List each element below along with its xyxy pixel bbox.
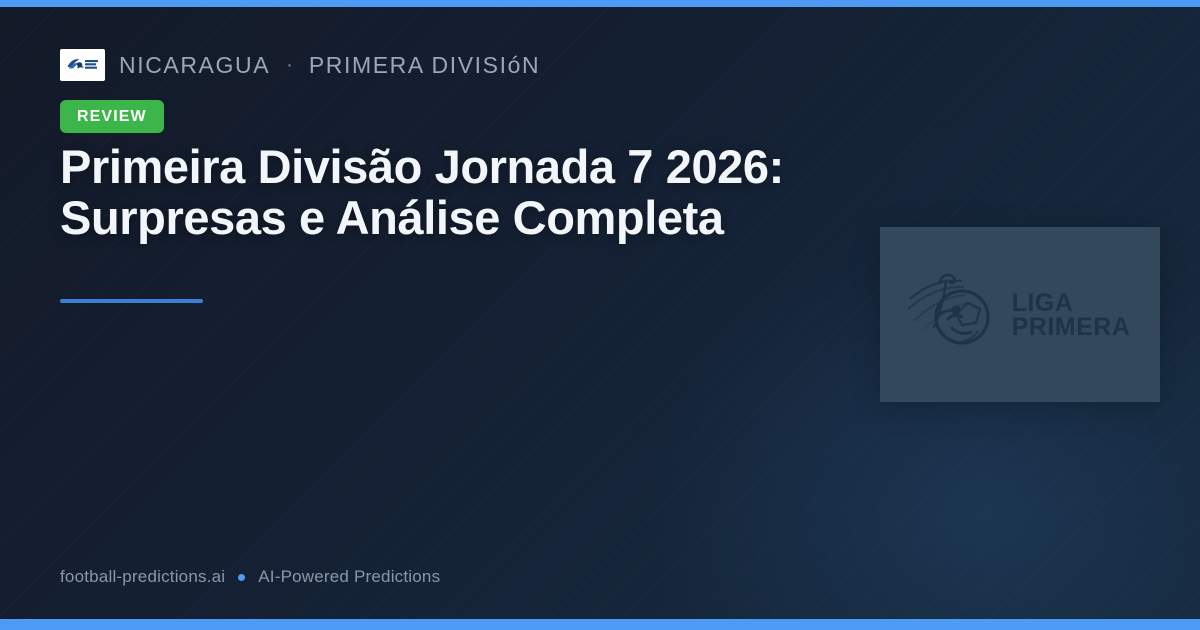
breadcrumb-country: NICARAGUA — [119, 52, 270, 79]
footer-site-name: football-predictions.ai — [60, 567, 225, 587]
league-logo: LIGA PRIMERA — [906, 269, 1131, 360]
status-badge: REVIEW — [60, 100, 164, 133]
footer: football-predictions.ai AI-Powered Predi… — [60, 567, 440, 587]
liga-primera-ball-icon — [906, 269, 1006, 360]
league-logo-word-liga: LIGA — [1012, 291, 1131, 315]
bullet-dot-icon — [238, 574, 245, 581]
title-divider — [60, 299, 203, 303]
breadcrumb: NICARAGUA · PRIMERA DIVISIóN — [60, 48, 540, 82]
og-share-card: NICARAGUA · PRIMERA DIVISIóN REVIEW Prim… — [0, 0, 1200, 630]
nicaragua-flag-icon — [60, 49, 105, 81]
league-logo-word-primera: PRIMERA — [1012, 315, 1131, 339]
league-logo-panel: LIGA PRIMERA — [880, 227, 1160, 402]
page-title: Primeira Divisão Jornada 7 2026: Surpres… — [60, 141, 890, 243]
league-logo-wordmark: LIGA PRIMERA — [1012, 291, 1131, 339]
breadcrumb-separator: · — [284, 54, 295, 77]
breadcrumb-competition: PRIMERA DIVISIóN — [309, 52, 540, 79]
footer-tagline: AI-Powered Predictions — [258, 567, 440, 587]
